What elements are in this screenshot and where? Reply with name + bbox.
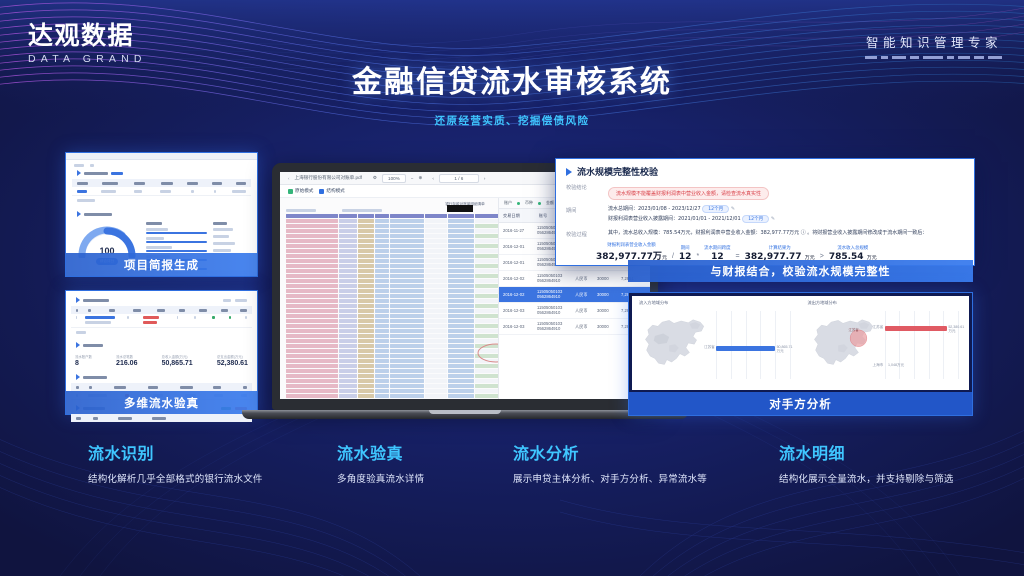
panel-report-generation[interactable]: 100 综合评分	[65, 152, 258, 277]
feature-item-detail: 流水明细 结构化展示全量流水，并支持剔除与筛选	[779, 440, 954, 485]
zoom-out-icon[interactable]: −	[411, 176, 414, 181]
stat-item: 流水总笔数 216.06	[116, 354, 137, 367]
mock-section-statement-result	[71, 294, 252, 306]
verify-stats-row: 流水账户数 8 流水总笔数 216.06 总收入金额(万元) 50,865.71…	[71, 351, 252, 371]
inflow-region-chart: 流入方地域分布 江苏省 50,865.71万元	[632, 296, 801, 390]
outflow-bar-primary	[885, 326, 947, 331]
cell-date: 2016-12-03	[503, 308, 533, 313]
tab-original-mode-label: 原始模式	[295, 188, 313, 194]
outflow-bar-value: 52,380.61万元	[948, 325, 964, 334]
mock-section-basic-info	[72, 167, 251, 179]
stat-value: 50,865.71	[162, 360, 193, 367]
cell-amount: 30000	[597, 276, 617, 281]
overlay-process-row: 校验过程 其中，流水总收入规模：785.54万元，财报利润表中营业收入金额：38…	[556, 228, 974, 239]
cell-date: 2016-11-27	[503, 228, 533, 233]
feature-item-recognition: 流水识别 结构化解析几乎全部格式的银行流水文件	[88, 440, 263, 485]
cell-date: 2016-12-02	[503, 276, 533, 281]
cell-account: 11505050103 0562864910	[537, 290, 571, 300]
slide-canvas: 达观数据 DATA GRAND 智能知识管理专家 金融信贷流水审核系统 还原经营…	[0, 0, 1024, 576]
panel-multidim-verification[interactable]: 流水账户数 8 流水总笔数 216.06 总收入金额(万元) 50,865.71…	[65, 290, 258, 415]
cell-date: 2016-12-01	[503, 260, 533, 265]
overlay-header: 流水规模完整性校验	[556, 159, 974, 181]
process-label: 校验过程	[566, 229, 600, 238]
mock-info-table	[72, 179, 251, 205]
conclusion-label: 校验结论	[566, 182, 600, 200]
overlay-caption-bar: 与财报结合，校验流水规模完整性	[628, 260, 973, 282]
cell-currency: 人民币	[575, 292, 593, 298]
period-line-1: 流水总期间：2023/01/08 - 2023/12/27 12个月 ✎	[608, 205, 964, 213]
page-subtitle: 还原经营实质、挖掘偿债风险	[0, 113, 1024, 128]
china-map-icon	[807, 312, 879, 374]
cell-currency: 人民币	[575, 308, 593, 314]
back-arrow-icon[interactable]: ‹	[288, 176, 290, 181]
formula-term-label: 流水期间跨度	[704, 245, 730, 251]
feature-desc: 多角度验真流水详情	[337, 471, 424, 485]
mock-section-score	[72, 208, 251, 220]
brand-tagline-text: 智能知识管理专家	[865, 32, 1002, 51]
prev-page-icon[interactable]: ‹	[432, 176, 434, 181]
overlay-title: 流水规模完整性校验	[577, 165, 658, 178]
cell-date: 2016-12-03	[503, 324, 533, 329]
overlay-period-row: 期间 流水总期间：2023/01/08 - 2023/12/27 12个月 ✎ …	[556, 204, 974, 226]
inflow-chart-title: 流入方地域分布	[639, 300, 668, 306]
zoom-level[interactable]: 100%	[382, 174, 406, 183]
feature-title: 流水识别	[88, 440, 263, 464]
next-page-icon[interactable]: ›	[484, 176, 486, 181]
feature-title: 流水明细	[779, 440, 954, 464]
redaction-block	[447, 205, 473, 212]
china-map-inflow	[638, 301, 710, 385]
stat-item: 总收入金额(万元) 50,865.71	[162, 354, 193, 367]
laptop-trackpad-notch	[429, 410, 501, 414]
panel-counterparty-caption: 对手方分析	[629, 392, 972, 415]
original-mode-icon	[288, 189, 293, 194]
stat-value: 52,380.61	[217, 360, 248, 367]
cell-amount: 30000	[597, 292, 617, 297]
mock-more-table	[71, 414, 252, 422]
formula-term-label: 期间	[679, 245, 692, 251]
ledger-filter-currency[interactable]: 币种	[525, 200, 533, 206]
panel-counterparty-analysis[interactable]: 流入方地域分布 江苏省 50,865.71万元	[628, 292, 973, 416]
map-marker-label: 江苏省	[849, 327, 859, 332]
mock-window-titlebar	[66, 153, 257, 160]
collapse-caret-icon[interactable]	[566, 168, 572, 176]
feature-desc: 结构化展示全量流水，并支持剔除与筛选	[779, 471, 954, 485]
feature-title: 流水分析	[513, 440, 707, 464]
panel-verification-caption: 多维流水验真	[66, 391, 257, 414]
brand-tagline: 智能知识管理专家	[865, 32, 1002, 59]
stat-label: 总支出金额(万元)	[217, 354, 248, 359]
inflow-bar	[716, 346, 775, 351]
stat-item: 流水账户数 8	[75, 354, 92, 367]
outflow-bar-category: 江苏省	[872, 325, 883, 330]
cell-currency: 人民币	[575, 324, 593, 330]
period-label: 期间	[566, 205, 600, 225]
mock-result-table	[71, 306, 252, 337]
counterparty-charts: 流入方地域分布 江苏省 50,865.71万元	[632, 296, 969, 390]
feature-desc: 结构化解析几乎全部格式的银行流水文件	[88, 471, 263, 485]
tab-structured-mode[interactable]: 结构模式	[319, 188, 344, 194]
stat-label: 流水总笔数	[116, 354, 137, 359]
stat-label: 流水账户数	[75, 354, 92, 359]
cell-date: 2016-12-01	[503, 244, 533, 249]
cell-date: 2016-12-02	[503, 292, 533, 297]
overlay-caption-text: 与财报结合，校验流水规模完整性	[711, 263, 891, 279]
cell-amount: 30000	[597, 324, 617, 329]
validation-formula: 财报利润表营业收入金额 382,977.77万元 / 期间 12 * 流水期间跨…	[556, 239, 974, 262]
formula-term-label: 财报利润表营业收入金额	[596, 242, 667, 248]
validation-overlay-card[interactable]: 流水规模完整性校验 校验结论 流水规模不能覆盖财报利润表中营业收入金额，请检查流…	[555, 158, 975, 266]
period-line-1-text: 流水总期间：2023/01/08 - 2023/12/27	[608, 206, 701, 212]
inflow-bar-chart: 江苏省 50,865.71万元	[713, 301, 795, 385]
period-line-2: 财报利润表营业收入披露期间：2021/01/01 - 2021/12/01 12…	[608, 215, 964, 223]
period-line-1-tag[interactable]: 12个月	[702, 205, 729, 213]
page-title: 金融信贷流水审核系统	[0, 57, 1024, 101]
page-indicator[interactable]: 1 / 6	[439, 174, 479, 183]
cell-amount: 30000	[597, 308, 617, 313]
ledger-filter-account[interactable]: 账户	[504, 200, 512, 206]
outflow-bar2-value: 1,048万元	[888, 363, 904, 368]
tab-original-mode[interactable]: 原始模式	[288, 188, 313, 194]
feature-item-analysis: 流水分析 展示申贷主体分析、对手方分析、异常流水等	[513, 440, 707, 485]
zoom-in-icon[interactable]: ⊕	[418, 175, 422, 181]
formula-term-label: 流水收入总规模	[829, 245, 877, 251]
feature-title: 流水验真	[337, 440, 424, 464]
feature-desc: 展示申贷主体分析、对手方分析、异常流水等	[513, 471, 707, 485]
china-map-outflow: 江苏省	[807, 301, 879, 385]
inflow-bar-category: 江苏省	[704, 345, 715, 350]
cell-account: 11505050103 0562864910	[537, 274, 571, 284]
formula-term-revenue: 财报利润表营业收入金额 382,977.77万元	[596, 242, 667, 262]
ledger-filter-amount[interactable]: 金额	[546, 200, 554, 206]
stat-item: 总支出金额(万元) 52,380.61	[217, 354, 248, 367]
panel-report-caption: 项目简报生成	[66, 253, 257, 276]
feature-item-verification: 流水验真 多角度验真流水详情	[337, 440, 424, 485]
period-line-2-text: 财报利润表营业收入披露期间：2021/01/01 - 2021/12/01	[608, 216, 741, 222]
edit-pencil-icon[interactable]: ✎	[771, 216, 775, 222]
china-map-icon	[638, 312, 710, 374]
edit-pencil-icon[interactable]: ✎	[731, 206, 735, 212]
outflow-bar2-category: 上海市	[872, 363, 883, 368]
document-name: 上海银行股份有限公司对账单.pdf	[295, 175, 362, 181]
process-text: 其中，流水总收入规模：785.54万元，财报利润表中营业收入金额：382,977…	[608, 229, 964, 236]
stat-value: 216.06	[116, 360, 137, 367]
outflow-bar-chart: 江苏省 52,380.61万元 上海市 1,048万元	[881, 301, 963, 385]
overlay-conclusion-row: 校验结论 流水规模不能覆盖财报利润表中营业收入金额，请检查流水真实性	[556, 181, 974, 201]
mock-section-detail	[71, 371, 252, 383]
period-line-2-tag[interactable]: 12个月	[742, 215, 769, 223]
stat-label: 总收入金额(万元)	[162, 354, 193, 359]
settings-gear-icon[interactable]: ⚙	[373, 175, 377, 181]
conclusion-badge: 流水规模不能覆盖财报利润表中营业收入金额，请检查流水真实性	[608, 187, 769, 200]
inflow-bar-value: 50,865.71万元	[777, 345, 795, 354]
outflow-region-chart: 流出方地域分布 江苏省 江苏省	[801, 296, 970, 390]
filter-dot-icon	[538, 202, 541, 205]
cell-account: 11505050103 0562864910	[537, 322, 571, 332]
cell-account: 11505050103 0562864910	[537, 306, 571, 316]
cell-currency: 人民币	[575, 276, 593, 282]
stat-value: 8	[75, 360, 92, 367]
structured-mode-icon	[319, 189, 324, 194]
filter-dot-icon	[517, 202, 520, 205]
mock-section-summary	[71, 339, 252, 351]
brand-logo-cn: 达观数据	[28, 22, 147, 50]
tab-structured-mode-label: 结构模式	[326, 188, 344, 194]
ledger-col-date: 交易日期	[503, 213, 533, 219]
formula-term-label: 计算结果为	[745, 245, 815, 251]
